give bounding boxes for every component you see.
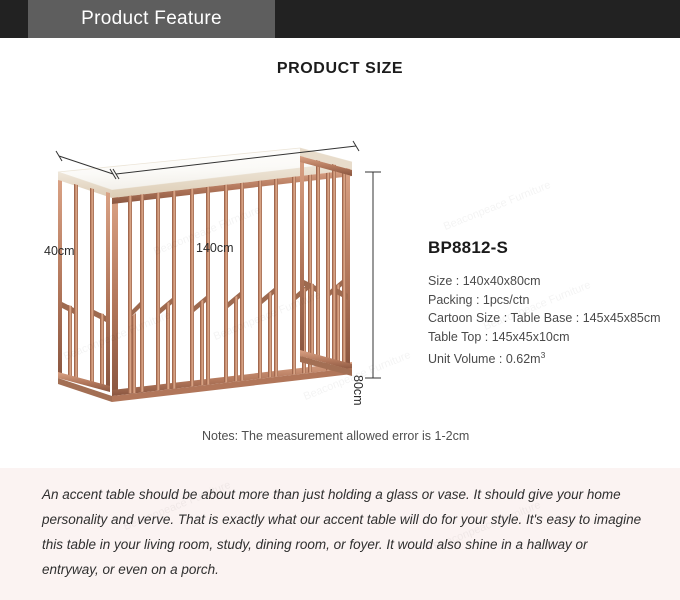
product-spec-list: Size : 140x40x80cm Packing : 1pcs/ctn Ca… [428, 272, 678, 369]
measurement-notes: Notes: The measurement allowed error is … [202, 429, 469, 443]
product-feature-page: Product Feature PRODUCT SIZE [0, 0, 680, 600]
dimension-label-height: 80cm [351, 375, 365, 406]
product-model-number: BP8812-S [428, 238, 678, 258]
spec-item-unit-volume: Unit Volume : 0.62m3 [428, 346, 678, 369]
spec-unit-volume-exponent: 3 [541, 350, 546, 360]
header-tab-label: Product Feature [81, 8, 222, 30]
spec-item-carton-size: Cartoon Size : Table Base : 145x45x85cm [428, 309, 678, 328]
page-title: PRODUCT SIZE [0, 60, 680, 78]
dimension-label-width: 140cm [196, 241, 234, 255]
spec-item-size: Size : 140x40x80cm [428, 272, 678, 291]
description-text: An accent table should be about more tha… [42, 482, 642, 582]
description-panel: An accent table should be about more tha… [0, 468, 680, 600]
spec-item-table-top: Table Top : 145x45x10cm [428, 328, 678, 347]
header-bar: Product Feature [0, 0, 680, 38]
spec-item-packing: Packing : 1pcs/ctn [428, 291, 678, 310]
spec-unit-volume-text: Unit Volume : 0.62m [428, 352, 541, 366]
header-tab-product-feature[interactable]: Product Feature [28, 0, 275, 38]
product-spec-block: BP8812-S Size : 140x40x80cm Packing : 1p… [428, 238, 678, 369]
dimension-label-depth: 40cm [44, 244, 75, 258]
base-left-panel [58, 180, 110, 392]
